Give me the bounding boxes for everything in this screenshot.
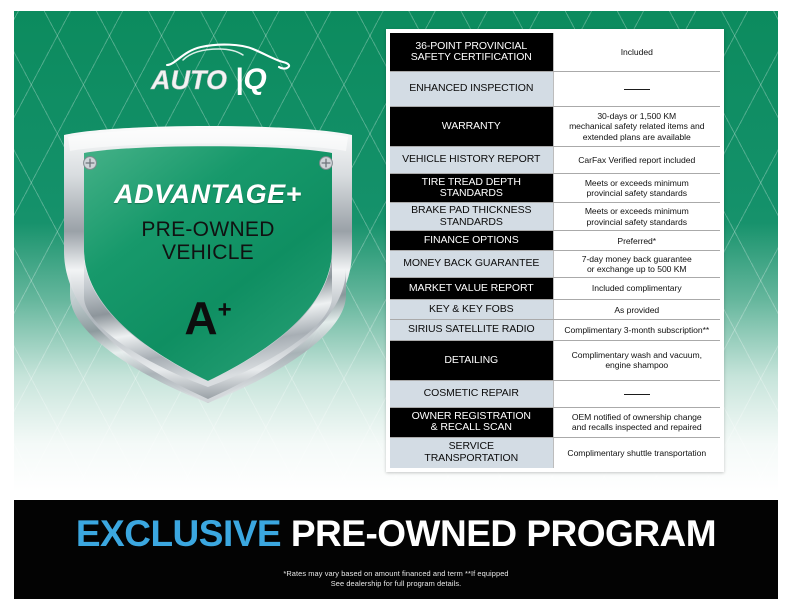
feature-label-line2: SAFETY CERTIFICATION bbox=[411, 51, 532, 63]
feature-value-line2: engine shampoo bbox=[605, 360, 668, 370]
feature-value-cell: Complimentary shuttle transportation bbox=[553, 437, 720, 468]
feature-value-line2: provincial safety standards bbox=[587, 188, 687, 198]
features-table-body: 36-POINT PROVINCIALSAFETY CERTIFICATIONI… bbox=[390, 33, 720, 468]
feature-value-cell: As provided bbox=[553, 300, 720, 320]
feature-value-line1: Complimentary wash and vacuum, bbox=[572, 350, 702, 360]
feature-value-cell: Preferred* bbox=[553, 231, 720, 251]
table-row: SIRIUS SATELLITE RADIOComplimentary 3-mo… bbox=[390, 320, 720, 340]
feature-label-line2: TRANSPORTATION bbox=[424, 452, 518, 464]
banner-fineprint: *Rates may vary based on amount financed… bbox=[14, 569, 778, 589]
empty-value-dash-icon bbox=[624, 394, 650, 395]
empty-value-dash-icon bbox=[624, 89, 650, 90]
table-row: DETAILINGComplimentary wash and vacuum,e… bbox=[390, 340, 720, 381]
feature-label-cell: 36-POINT PROVINCIALSAFETY CERTIFICATION bbox=[390, 33, 553, 72]
fineprint-line-2: See dealership for full program details. bbox=[331, 579, 462, 588]
feature-value-line1: Meets or exceeds minimum bbox=[585, 206, 689, 216]
feature-label-line1: COSMETIC REPAIR bbox=[424, 387, 519, 399]
feature-value-cell: OEM notified of ownership changeand reca… bbox=[553, 407, 720, 437]
logo-text-iq: |Q bbox=[235, 63, 267, 96]
feature-value-cell: 7-day money back guaranteeor exchange up… bbox=[553, 251, 720, 277]
feature-label-cell: OWNER REGISTRATION& RECALL SCAN bbox=[390, 407, 553, 437]
feature-value-line1: OEM notified of ownership change bbox=[572, 412, 702, 422]
feature-value-cell: Meets or exceeds minimumprovincial safet… bbox=[553, 174, 720, 202]
feature-value-cell bbox=[553, 72, 720, 106]
features-table-card: 36-POINT PROVINCIALSAFETY CERTIFICATIONI… bbox=[386, 29, 724, 472]
table-row: 36-POINT PROVINCIALSAFETY CERTIFICATIONI… bbox=[390, 33, 720, 72]
feature-label-line1: TIRE TREAD DEPTH bbox=[422, 176, 521, 188]
bottom-banner: EXCLUSIVE PRE-OWNED PROGRAM *Rates may v… bbox=[14, 500, 778, 599]
feature-value-cell: Included bbox=[553, 33, 720, 72]
feature-value-line1: CarFax Verified report included bbox=[578, 155, 695, 165]
table-row: WARRANTY30-days or 1,500 KMmechanical sa… bbox=[390, 106, 720, 147]
feature-label-cell: VEHICLE HISTORY REPORT bbox=[390, 147, 553, 174]
table-row: TIRE TREAD DEPTHSTANDARDSMeets or exceed… bbox=[390, 174, 720, 202]
feature-label-line1: MARKET VALUE REPORT bbox=[409, 282, 534, 294]
feature-value-line1: Complimentary shuttle transportation bbox=[567, 448, 706, 458]
feature-value-cell: Meets or exceeds minimumprovincial safet… bbox=[553, 202, 720, 230]
screw-icon-right bbox=[320, 157, 333, 170]
features-table: 36-POINT PROVINCIALSAFETY CERTIFICATIONI… bbox=[390, 33, 720, 468]
feature-value-cell: 30-days or 1,500 KMmechanical safety rel… bbox=[553, 106, 720, 147]
feature-label-cell: SIRIUS SATELLITE RADIO bbox=[390, 320, 553, 340]
feature-label-line1: VEHICLE HISTORY REPORT bbox=[402, 153, 540, 165]
feature-value-line2: mechanical safety related items and bbox=[569, 121, 704, 131]
feature-value-line1: Meets or exceeds minimum bbox=[585, 178, 689, 188]
feature-label-cell: ENHANCED INSPECTION bbox=[390, 72, 553, 106]
table-row: KEY & KEY FOBSAs provided bbox=[390, 300, 720, 320]
feature-label-line1: ENHANCED INSPECTION bbox=[409, 82, 533, 94]
fineprint-line-1: *Rates may vary based on amount financed… bbox=[283, 569, 508, 578]
green-background-panel: AUTO |Q bbox=[14, 11, 778, 492]
feature-label-cell: COSMETIC REPAIR bbox=[390, 381, 553, 407]
feature-value-cell bbox=[553, 381, 720, 407]
feature-label-line1: 36-POINT PROVINCIAL bbox=[415, 40, 527, 52]
feature-value-line1: Included complimentary bbox=[592, 283, 682, 293]
feature-label-cell: FINANCE OPTIONS bbox=[390, 231, 553, 251]
feature-label-line1: MONEY BACK GUARANTEE bbox=[403, 257, 539, 269]
table-row: SERVICETRANSPORTATIONComplimentary shutt… bbox=[390, 437, 720, 468]
feature-value-cell: Complimentary 3-month subscription** bbox=[553, 320, 720, 340]
car-silhouette-icon: AUTO |Q bbox=[149, 35, 299, 97]
table-row: MARKET VALUE REPORTIncluded complimentar… bbox=[390, 277, 720, 299]
autoiq-logo: AUTO |Q bbox=[149, 35, 299, 97]
feature-value-line1: Preferred* bbox=[617, 236, 656, 246]
feature-label-cell: WARRANTY bbox=[390, 106, 553, 147]
feature-value-line2: or exchange up to 500 KM bbox=[587, 264, 687, 274]
table-row: MONEY BACK GUARANTEE7-day money back gua… bbox=[390, 251, 720, 277]
feature-value-line1: Included bbox=[621, 47, 653, 57]
feature-value-line1: 30-days or 1,500 KM bbox=[597, 111, 676, 121]
banner-title-highlight: EXCLUSIVE bbox=[76, 513, 281, 554]
advantage-plus-shield: ADVANTAGE+ PRE-OWNED VEHICLE A+ bbox=[58, 119, 358, 409]
table-row: OWNER REGISTRATION& RECALL SCANOEM notif… bbox=[390, 407, 720, 437]
table-row: COSMETIC REPAIR bbox=[390, 381, 720, 407]
feature-value-line2: provincial safety standards bbox=[587, 217, 687, 227]
feature-label-line1: KEY & KEY FOBS bbox=[429, 303, 514, 315]
table-row: ENHANCED INSPECTION bbox=[390, 72, 720, 106]
feature-value-line1: Complimentary 3-month subscription** bbox=[564, 325, 709, 335]
poster-root: AUTO |Q bbox=[0, 0, 792, 612]
feature-label-line1: OWNER REGISTRATION bbox=[412, 410, 531, 422]
feature-label-line1: WARRANTY bbox=[442, 120, 501, 132]
feature-value-line1: As provided bbox=[614, 305, 659, 315]
feature-value-line2: and recalls inspected and repaired bbox=[572, 422, 702, 432]
feature-value-cell: Complimentary wash and vacuum,engine sha… bbox=[553, 340, 720, 381]
feature-label-line1: SIRIUS SATELLITE RADIO bbox=[408, 323, 535, 335]
feature-label-cell: TIRE TREAD DEPTHSTANDARDS bbox=[390, 174, 553, 202]
feature-value-cell: Included complimentary bbox=[553, 277, 720, 299]
feature-label-line1: FINANCE OPTIONS bbox=[424, 234, 519, 246]
feature-label-line1: DETAILING bbox=[444, 354, 498, 366]
feature-label-cell: MARKET VALUE REPORT bbox=[390, 277, 553, 299]
feature-label-cell: SERVICETRANSPORTATION bbox=[390, 437, 553, 468]
feature-label-cell: KEY & KEY FOBS bbox=[390, 300, 553, 320]
banner-title: EXCLUSIVE PRE-OWNED PROGRAM bbox=[14, 513, 778, 555]
feature-label-line1: BRAKE PAD THICKNESS bbox=[411, 204, 531, 216]
feature-label-line2: STANDARDS bbox=[440, 216, 503, 228]
feature-value-line3: extended plans are available bbox=[583, 132, 691, 142]
feature-label-cell: DETAILING bbox=[390, 340, 553, 381]
feature-label-line2: & RECALL SCAN bbox=[431, 421, 512, 433]
feature-value-line1: 7-day money back guarantee bbox=[582, 254, 692, 264]
screw-icon-left bbox=[84, 157, 97, 170]
table-row: VEHICLE HISTORY REPORTCarFax Verified re… bbox=[390, 147, 720, 174]
feature-label-cell: MONEY BACK GUARANTEE bbox=[390, 251, 553, 277]
table-row: BRAKE PAD THICKNESSSTANDARDSMeets or exc… bbox=[390, 202, 720, 230]
feature-label-line1: SERVICE bbox=[449, 440, 494, 452]
feature-value-cell: CarFax Verified report included bbox=[553, 147, 720, 174]
feature-label-cell: BRAKE PAD THICKNESSSTANDARDS bbox=[390, 202, 553, 230]
banner-title-rest: PRE-OWNED PROGRAM bbox=[291, 513, 716, 554]
logo-text-auto: AUTO bbox=[150, 65, 227, 95]
table-row: FINANCE OPTIONSPreferred* bbox=[390, 231, 720, 251]
feature-label-line2: STANDARDS bbox=[440, 187, 503, 199]
